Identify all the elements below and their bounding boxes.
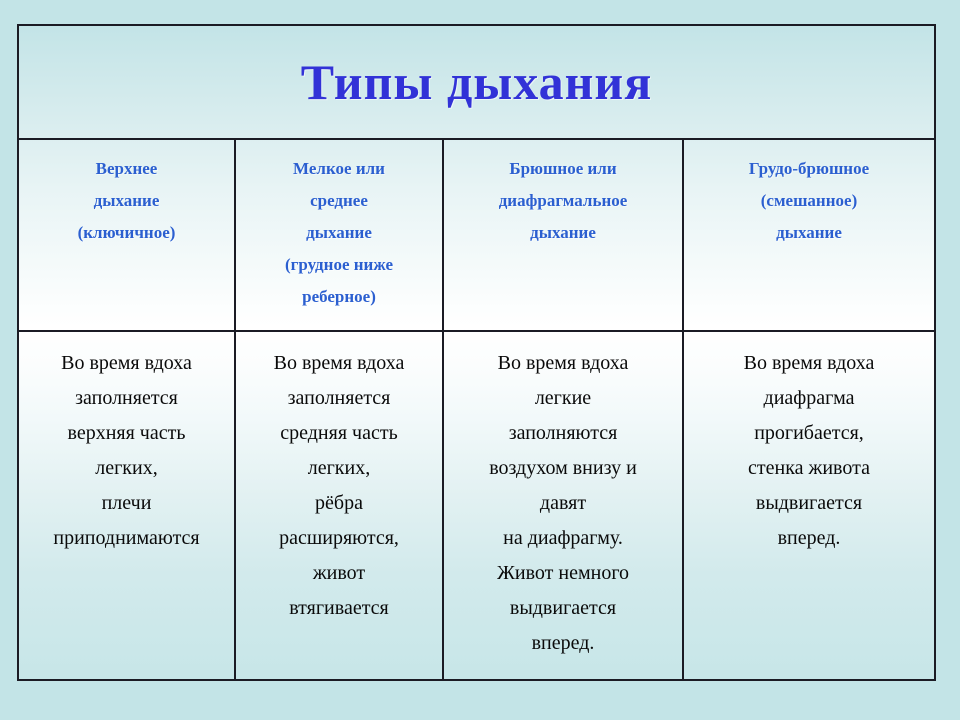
body-cell-bryushnoe-diafragmalnoe: Во время вдоха легкие заполняются воздух… <box>442 332 682 679</box>
header-line: Верхнее <box>27 153 226 185</box>
body-line: приподнимаются <box>25 521 228 556</box>
header-line: диафрагмальное <box>452 185 674 217</box>
body-line: вперед. <box>690 521 928 556</box>
body-line: вперед. <box>450 626 676 661</box>
table-body-row: Во время вдоха заполняется верхняя часть… <box>19 332 934 679</box>
body-line: выдвигается <box>450 591 676 626</box>
body-line: живот <box>242 556 436 591</box>
header-cell-bryushnoe-diafragmalnoe: Брюшное или диафрагмальное дыхание <box>442 140 682 330</box>
body-line: легких, <box>25 451 228 486</box>
header-line: реберное) <box>244 281 434 313</box>
body-line: Во время вдоха <box>690 346 928 381</box>
body-line: выдвигается <box>690 486 928 521</box>
header-cell-grudo-bryushnoe: Грудо-брюшное (смешанное) дыхание <box>682 140 934 330</box>
body-line: диафрагма <box>690 381 928 416</box>
body-line: заполняется <box>242 381 436 416</box>
body-line: Во время вдоха <box>242 346 436 381</box>
header-line: (ключичное) <box>27 217 226 249</box>
table-title-row: Типы дыхания <box>19 26 934 140</box>
header-line: дыхание <box>692 217 926 249</box>
body-line: Во время вдоха <box>450 346 676 381</box>
body-cell-verhnee: Во время вдоха заполняется верхняя часть… <box>19 332 234 679</box>
header-line: дыхание <box>244 217 434 249</box>
header-line: Мелкое или <box>244 153 434 185</box>
body-line: легких, <box>242 451 436 486</box>
header-line: (смешанное) <box>692 185 926 217</box>
header-line: дыхание <box>27 185 226 217</box>
body-line: заполняется <box>25 381 228 416</box>
page-title: Типы дыхания <box>301 53 653 111</box>
body-line: расширяются, <box>242 521 436 556</box>
body-line: рёбра <box>242 486 436 521</box>
body-line: давят <box>450 486 676 521</box>
body-cell-melkoe-srednee: Во время вдоха заполняется средняя часть… <box>234 332 442 679</box>
header-line: среднее <box>244 185 434 217</box>
body-line: заполняются <box>450 416 676 451</box>
breathing-types-table: Типы дыхания Верхнее дыхание (ключичное)… <box>17 24 936 681</box>
header-cell-melkoe-srednee: Мелкое или среднее дыхание (грудное ниже… <box>234 140 442 330</box>
body-line: на диафрагму. <box>450 521 676 556</box>
header-cell-verhnee: Верхнее дыхание (ключичное) <box>19 140 234 330</box>
body-cell-grudo-bryushnoe: Во время вдоха диафрагма прогибается, ст… <box>682 332 934 679</box>
table-header-row: Верхнее дыхание (ключичное) Мелкое или с… <box>19 140 934 332</box>
body-line: втягивается <box>242 591 436 626</box>
body-line: плечи <box>25 486 228 521</box>
body-line: Живот немного <box>450 556 676 591</box>
body-line: стенка живота <box>690 451 928 486</box>
body-line: прогибается, <box>690 416 928 451</box>
body-line: верхняя часть <box>25 416 228 451</box>
slide-canvas: Типы дыхания Верхнее дыхание (ключичное)… <box>0 0 960 720</box>
body-line: воздухом внизу и <box>450 451 676 486</box>
body-line: средняя часть <box>242 416 436 451</box>
header-line: (грудное ниже <box>244 249 434 281</box>
header-line: Брюшное или <box>452 153 674 185</box>
body-line: Во время вдоха <box>25 346 228 381</box>
body-line: легкие <box>450 381 676 416</box>
header-line: дыхание <box>452 217 674 249</box>
header-line: Грудо-брюшное <box>692 153 926 185</box>
